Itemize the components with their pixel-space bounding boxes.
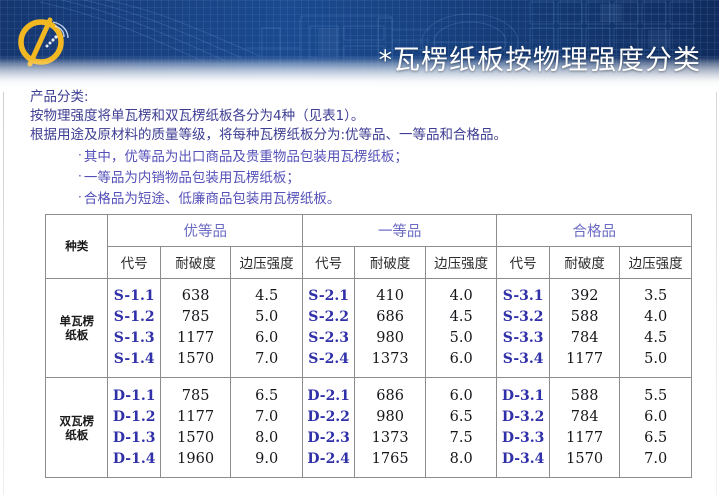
value: S-1.2: [108, 307, 159, 328]
table-group-header-row: 种类 优等品 一等品 合格品: [46, 215, 692, 247]
value: 1373: [355, 428, 425, 449]
value: 1765: [355, 449, 425, 470]
value: 1177: [550, 428, 620, 449]
table-sub-header-row: 代号 耐破度 边压强度 代号 耐破度 边压强度 代号 耐破度 边压强度: [46, 246, 692, 278]
value: 1373: [355, 349, 425, 370]
value: S-2.2: [303, 307, 354, 328]
value: D-2.4: [303, 449, 354, 470]
value: 5.0: [620, 349, 691, 370]
sub-header-edge-2: 边压强度: [425, 246, 497, 278]
value: 6.5: [231, 386, 302, 407]
row-kind-single-wall: 单瓦楞 纸板: [46, 278, 108, 378]
value: 686: [355, 386, 425, 407]
value: S-2.1: [303, 286, 354, 307]
value: 8.0: [426, 449, 497, 470]
cell-single-g1-burst: 638 785 1177 1570: [160, 278, 231, 378]
value: 410: [355, 286, 425, 307]
value: 785: [161, 386, 231, 407]
cell-double-g3-burst: 588 784 1177 1570: [549, 378, 620, 478]
value: 980: [355, 407, 425, 428]
value: 4.0: [620, 307, 691, 328]
intro-line-3: 根据用途及原材料的质量等级，将每种瓦楞纸板分为:优等品、一等品和合格品。: [30, 126, 710, 145]
value: S-2.3: [303, 328, 354, 349]
row-kind-double-wall-line1: 双瓦楞: [46, 414, 107, 428]
value: 6.0: [426, 349, 497, 370]
value: 1177: [161, 328, 231, 349]
value: S-1.4: [108, 349, 159, 370]
table-row-single-wall: 单瓦楞 纸板 S-1.1 S-1.2 S-1.3 S-1.4 638 785 1…: [46, 278, 692, 378]
cell-double-g2-codes: D-2.1 D-2.2 D-2.3 D-2.4: [302, 378, 354, 478]
value: 785: [161, 307, 231, 328]
value: 4.5: [620, 328, 691, 349]
value: D-3.4: [497, 449, 548, 470]
value: 3.5: [620, 286, 691, 307]
value: S-1.3: [108, 328, 159, 349]
cell-single-g2-edge: 4.0 4.5 5.0 6.0: [425, 278, 497, 378]
value: 588: [550, 307, 620, 328]
row-kind-single-wall-line1: 单瓦楞: [46, 314, 107, 328]
cell-single-g1-codes: S-1.1 S-1.2 S-1.3 S-1.4: [108, 278, 160, 378]
bullet-item-3-label: 合格品为短途、低廉商品包装用瓦楞纸板。: [84, 191, 341, 207]
value: 784: [550, 407, 620, 428]
value: S-3.3: [497, 328, 548, 349]
row-kind-double-wall: 双瓦楞 纸板: [46, 378, 108, 478]
bullet-item-2: ·一等品为内销物品包装用瓦楞纸板；: [30, 167, 710, 188]
bullet-marker-icon: ·: [78, 146, 82, 165]
value: D-3.2: [497, 407, 548, 428]
value: 6.5: [620, 428, 691, 449]
cell-single-g3-edge: 3.5 4.0 4.5 5.0: [620, 278, 692, 378]
value: 8.0: [231, 428, 302, 449]
cell-double-g1-codes: D-1.1 D-1.2 D-1.3 D-1.4: [108, 378, 160, 478]
row-kind-single-wall-line2: 纸板: [46, 328, 107, 342]
slide-root: *瓦楞纸板按物理强度分类 产品分类: 按物理强度将单瓦楞和双瓦楞纸板各分为4种（…: [0, 0, 719, 495]
value: 6.0: [231, 328, 302, 349]
cell-double-g1-burst: 785 1177 1570 1960: [160, 378, 231, 478]
value: 1570: [161, 428, 231, 449]
value: 6.0: [620, 407, 691, 428]
value: 1177: [161, 407, 231, 428]
value: 9.0: [231, 449, 302, 470]
row-kind-double-wall-line2: 纸板: [46, 428, 107, 442]
sub-header-burst-2: 耐破度: [355, 246, 426, 278]
cell-single-g1-edge: 4.5 5.0 6.0 7.0: [231, 278, 303, 378]
table-row-double-wall: 双瓦楞 纸板 D-1.1 D-1.2 D-1.3 D-1.4 785 1177 …: [46, 378, 692, 478]
sub-header-code-2: 代号: [302, 246, 354, 278]
value: 1570: [161, 349, 231, 370]
cell-single-g2-burst: 410 686 980 1373: [355, 278, 426, 378]
bullet-marker-icon: ·: [78, 188, 82, 207]
bullet-marker-icon: ·: [78, 167, 82, 186]
value: D-1.2: [108, 407, 159, 428]
value: S-3.2: [497, 307, 548, 328]
intro-text-block: 产品分类: 按物理强度将单瓦楞和双瓦楞纸板各分为4种（见表1）。 根据用途及原材…: [30, 88, 710, 209]
sub-header-code-3: 代号: [497, 246, 549, 278]
group-header-qualified: 合格品: [497, 215, 692, 247]
intro-line-1: 产品分类:: [30, 88, 710, 107]
cell-single-g3-burst: 392 588 784 1177: [549, 278, 620, 378]
value: 1960: [161, 449, 231, 470]
value: S-1.1: [108, 286, 159, 307]
cell-double-g1-edge: 6.5 7.0 8.0 9.0: [231, 378, 303, 478]
value: 980: [355, 328, 425, 349]
page-edge-right: [716, 88, 717, 495]
value: 4.0: [426, 286, 497, 307]
cell-double-g3-codes: D-3.1 D-3.2 D-3.3 D-3.4: [497, 378, 549, 478]
value: 686: [355, 307, 425, 328]
cell-single-g2-codes: S-2.1 S-2.2 S-2.3 S-2.4: [302, 278, 354, 378]
value: D-3.1: [497, 386, 548, 407]
value: 392: [550, 286, 620, 307]
value: 7.5: [426, 428, 497, 449]
bullet-item-3: ·合格品为短途、低廉商品包装用瓦楞纸板。: [30, 188, 710, 209]
value: 7.0: [231, 349, 302, 370]
value: D-1.3: [108, 428, 159, 449]
sub-header-code-1: 代号: [108, 246, 160, 278]
group-header-first-class: 一等品: [302, 215, 496, 247]
header-kind-cell: 种类: [46, 215, 108, 279]
spec-table-wrap: 种类 优等品 一等品 合格品 代号 耐破度 边压强度 代号 耐破度 边压强度 代…: [45, 214, 692, 478]
value: 6.0: [426, 386, 497, 407]
value: 5.0: [426, 328, 497, 349]
value: 7.0: [620, 449, 691, 470]
value: 5.5: [620, 386, 691, 407]
spec-table: 种类 优等品 一等品 合格品 代号 耐破度 边压强度 代号 耐破度 边压强度 代…: [45, 214, 692, 478]
bullet-item-2-label: 一等品为内销物品包装用瓦楞纸板；: [84, 170, 300, 186]
value: 7.0: [231, 407, 302, 428]
value: 588: [550, 386, 620, 407]
value: S-3.1: [497, 286, 548, 307]
cell-double-g3-edge: 5.5 6.0 6.5 7.0: [620, 378, 692, 478]
bullet-item-1: ·其中，优等品为出口商品及贵重物品包装用瓦楞纸板；: [30, 146, 710, 167]
value: D-2.2: [303, 407, 354, 428]
page-edge-left: [3, 88, 4, 495]
value: 784: [550, 328, 620, 349]
group-header-premium: 优等品: [108, 215, 302, 247]
cell-single-g3-codes: S-3.1 S-3.2 S-3.3 S-3.4: [497, 278, 549, 378]
cell-double-g2-edge: 6.0 6.5 7.5 8.0: [425, 378, 497, 478]
value: D-1.4: [108, 449, 159, 470]
value: D-2.1: [303, 386, 354, 407]
value: 638: [161, 286, 231, 307]
bullet-item-1-label: 其中，优等品为出口商品及贵重物品包装用瓦楞纸板；: [84, 149, 408, 165]
value: 1570: [550, 449, 620, 470]
value: 6.5: [426, 407, 497, 428]
sub-header-burst-3: 耐破度: [549, 246, 620, 278]
intro-line-2: 按物理强度将单瓦楞和双瓦楞纸板各分为4种（见表1）。: [30, 107, 710, 126]
sub-header-edge-3: 边压强度: [620, 246, 692, 278]
page-title: *瓦楞纸板按物理强度分类: [379, 44, 702, 78]
bullet-list: ·其中，优等品为出口商品及贵重物品包装用瓦楞纸板； ·一等品为内销物品包装用瓦楞…: [30, 146, 710, 209]
cell-double-g2-burst: 686 980 1373 1765: [355, 378, 426, 478]
value: S-2.4: [303, 349, 354, 370]
header-banner: *瓦楞纸板按物理强度分类: [0, 0, 719, 92]
value: 1177: [550, 349, 620, 370]
value: D-3.3: [497, 428, 548, 449]
sub-header-burst-1: 耐破度: [160, 246, 231, 278]
value: S-3.4: [497, 349, 548, 370]
value: 4.5: [231, 286, 302, 307]
sub-header-edge-1: 边压强度: [231, 246, 303, 278]
value: 5.0: [231, 307, 302, 328]
value: D-1.1: [108, 386, 159, 407]
value: 4.5: [426, 307, 497, 328]
value: D-2.3: [303, 428, 354, 449]
